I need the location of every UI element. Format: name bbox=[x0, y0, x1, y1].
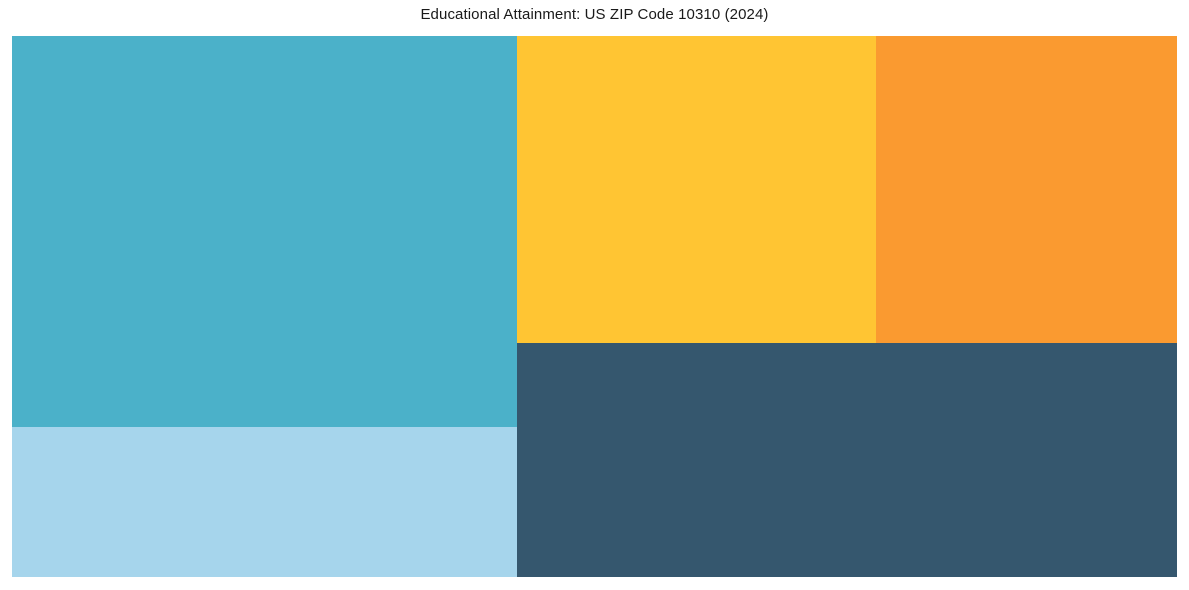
treemap-tile-graduate-or-professional-degree[interactable]: Graduate or professional degree bbox=[517, 343, 1177, 577]
treemap-tile-some-college-no-degree[interactable]: Some college, no degree bbox=[517, 36, 876, 343]
treemap-plot-area: High school graduate (or equivalent)Some… bbox=[12, 36, 1177, 577]
chart-title: Educational Attainment: US ZIP Code 1031… bbox=[0, 5, 1189, 24]
treemap-figure: Educational Attainment: US ZIP Code 1031… bbox=[0, 0, 1189, 590]
treemap-tile-high-school-graduate[interactable]: High school graduate (or equivalent) bbox=[12, 36, 517, 427]
treemap-tile-less-than-high-school-diploma[interactable]: Less than high school diploma bbox=[12, 427, 517, 577]
treemap-tile-bachelors-degree[interactable]: Bachelor's degree bbox=[876, 36, 1177, 343]
